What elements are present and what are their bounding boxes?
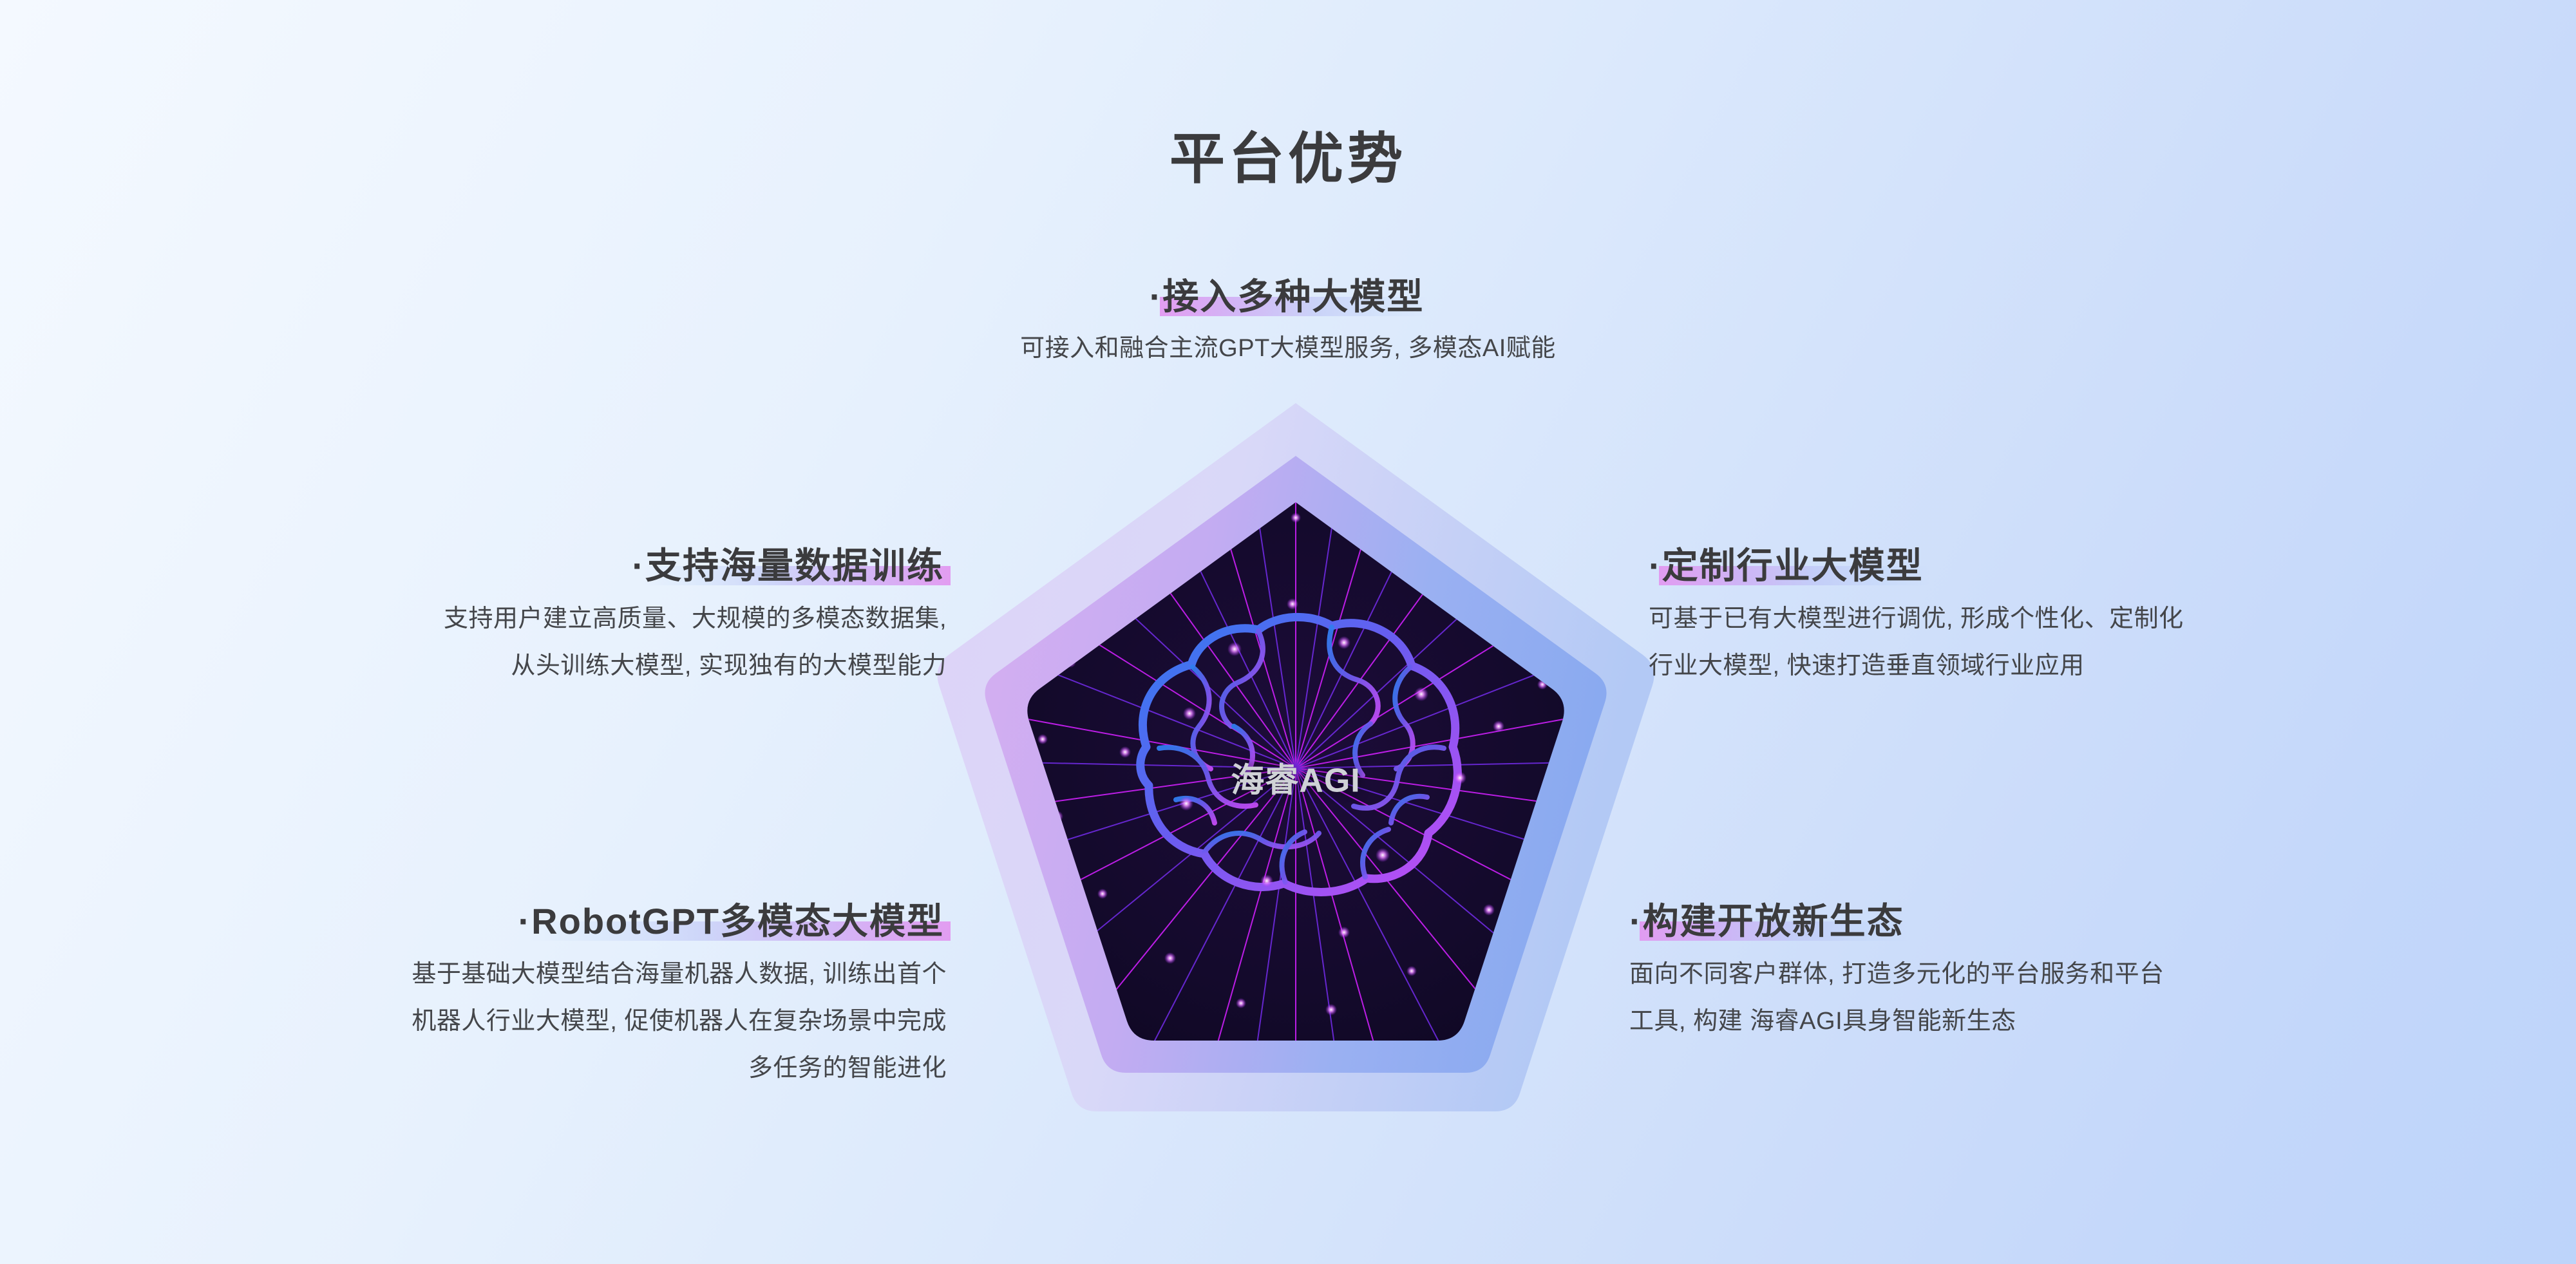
bullet-dot: · <box>518 901 532 941</box>
feature-robotgpt-multimodal: ·RobotGPT多模态大模型 基于基础大模型结合海量机器人数据, 训练出首个 … <box>90 901 947 1092</box>
bullet-dot: · <box>1150 276 1163 317</box>
feature-open-ecosystem: ·构建开放新生态 面向不同客户群体, 打造多元化的平台服务和平台 工具, 构建 … <box>1629 901 2486 1045</box>
heading-text: 支持海量数据训练 <box>645 545 944 586</box>
bullet-dot: · <box>1629 901 1643 941</box>
desc-line: 支持用户建立高质量、大规模的多模态数据集, <box>116 596 947 643</box>
desc-line: 行业大模型, 快速打造垂直领域行业应用 <box>1649 643 2486 690</box>
heading-text: RobotGPT多模态大模型 <box>531 901 944 941</box>
feature-access-models: ·接入多种大模型 可接入和融合主流GPT大模型服务, 多模态AI赋能 <box>799 277 1777 372</box>
feature-heading-robotgpt-multimodal: ·RobotGPT多模态大模型 <box>518 901 947 942</box>
feature-heading-access-models: ·接入多种大模型 <box>1150 277 1427 317</box>
infographic-canvas: 平台优势 <box>0 0 2576 1264</box>
center-pentagon-graphic: 海睿AGI <box>932 391 1660 1113</box>
desc-line: 从头训练大模型, 实现独有的大模型能力 <box>116 643 947 690</box>
bullet-dot: · <box>632 545 645 586</box>
pentagon-core <box>932 391 1660 1113</box>
feature-custom-industry-model: ·定制行业大模型 可基于已有大模型进行调优, 形成个性化、定制化 行业大模型, … <box>1649 546 2486 690</box>
feature-heading-massive-data-training: ·支持海量数据训练 <box>632 546 947 587</box>
heading-text: 定制行业大模型 <box>1662 545 1924 586</box>
desc-line: 可接入和融合主流GPT大模型服务, 多模态AI赋能 <box>799 325 1777 372</box>
bullet-dot: · <box>1649 545 1662 586</box>
feature-description-massive-data-training: 支持用户建立高质量、大规模的多模态数据集, 从头训练大模型, 实现独有的大模型能… <box>116 596 947 690</box>
desc-line: 可基于已有大模型进行调优, 形成个性化、定制化 <box>1649 596 2486 643</box>
desc-line: 机器人行业大模型, 促使机器人在复杂场景中完成 <box>90 998 947 1045</box>
page-title: 平台优势 <box>0 113 2576 194</box>
feature-description-custom-industry-model: 可基于已有大模型进行调优, 形成个性化、定制化 行业大模型, 快速打造垂直领域行… <box>1649 596 2486 690</box>
heading-text: 构建开放新生态 <box>1643 901 1904 941</box>
feature-heading-custom-industry-model: ·定制行业大模型 <box>1649 546 1926 587</box>
heading-text: 接入多种大模型 <box>1162 276 1424 317</box>
feature-heading-open-ecosystem: ·构建开放新生态 <box>1629 901 1907 942</box>
feature-massive-data-training: ·支持海量数据训练 支持用户建立高质量、大规模的多模态数据集, 从头训练大模型,… <box>116 546 947 690</box>
feature-description-robotgpt-multimodal: 基于基础大模型结合海量机器人数据, 训练出首个 机器人行业大模型, 促使机器人在… <box>90 951 947 1092</box>
feature-description-access-models: 可接入和融合主流GPT大模型服务, 多模态AI赋能 <box>799 325 1777 372</box>
feature-description-open-ecosystem: 面向不同客户群体, 打造多元化的平台服务和平台 工具, 构建 海睿AGI具身智能… <box>1629 951 2486 1045</box>
desc-line: 工具, 构建 海睿AGI具身智能新生态 <box>1629 998 2486 1045</box>
desc-line: 基于基础大模型结合海量机器人数据, 训练出首个 <box>90 951 947 998</box>
desc-line: 面向不同客户群体, 打造多元化的平台服务和平台 <box>1629 951 2486 998</box>
desc-line: 多任务的智能进化 <box>90 1045 947 1092</box>
